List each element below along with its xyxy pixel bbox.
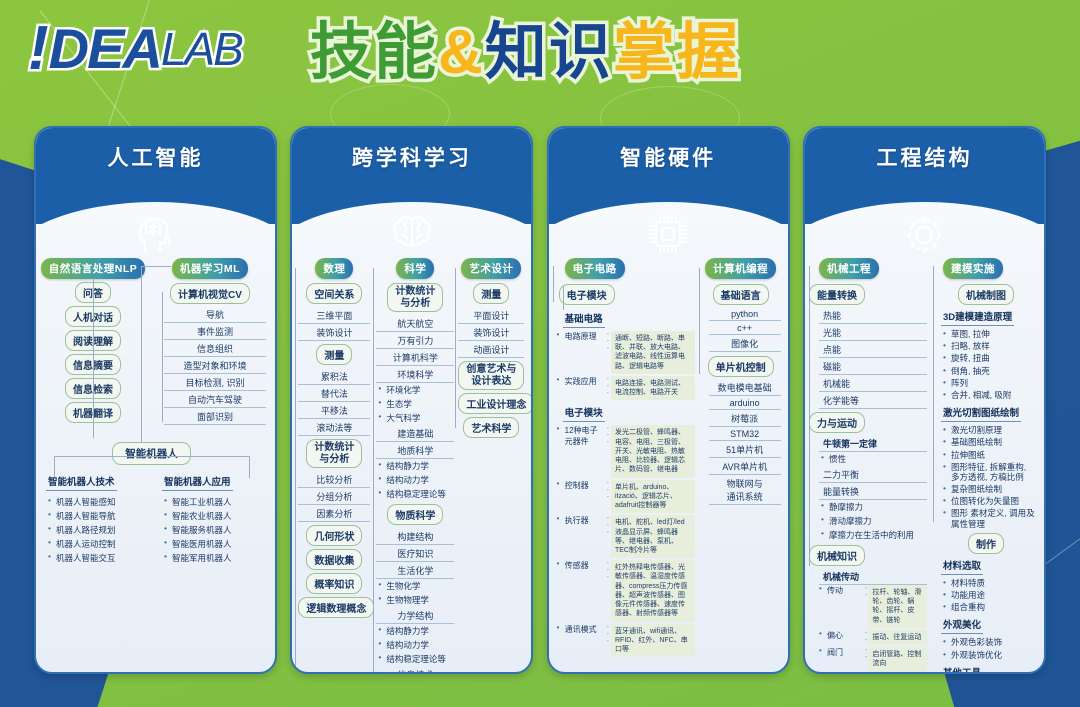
modeling-sub-header: 材料选取 — [941, 557, 983, 575]
basic-circuit-memo-label[interactable]: 电路原理 — [557, 331, 605, 342]
connector-electronic-module — [563, 286, 564, 310]
electronic-module-memo-label[interactable]: 12种电子 元器件 — [557, 425, 605, 447]
mechanical-group-node[interactable]: 能量转换 — [809, 284, 865, 305]
mathematics-node[interactable]: 概率知识 — [306, 573, 362, 594]
mechanical-item[interactable]: 化学能等 — [819, 392, 927, 409]
modeling-bullet[interactable]: 合并, 相减, 吸附 — [941, 389, 1039, 401]
mechanical-sub-list: 机械传动传动--拉杆、轮轴、滑轮、齿轮、蜗轮、摇杆、皮带、链轮偏心--振动、往复… — [809, 568, 927, 674]
electronic-module-memo-text: 电机、舵机、led灯/led液晶显示屏、蜂鸣器等、继电器、泵机、TEC制冷片等 — [611, 515, 695, 558]
column-2-header: 跨学科学习 — [292, 128, 531, 224]
robot-app-item[interactable]: 智能工业机器人 — [162, 495, 267, 509]
mathematics-leaf[interactable]: 平移法 — [298, 402, 370, 419]
electronic-module-memo-text: 发光二极管、蜂鸣器、电容、电阻、三极管、开关、光敏电阻、热敏电阻、比较器、逻辑芯… — [611, 425, 695, 477]
science-bullet[interactable]: 结构稳定理论等 — [376, 652, 454, 666]
mechanical-item[interactable]: 二力平衡 — [819, 466, 927, 483]
mathematics-leaf[interactable]: 比较分析 — [298, 471, 370, 488]
modeling-bullet[interactable]: 功能用途 — [941, 589, 1039, 601]
logo-idea-text: DEA — [49, 21, 161, 77]
mathematics-node[interactable]: 测量 — [316, 344, 352, 365]
hub-robot-node[interactable]: 智能机器人 — [112, 442, 191, 465]
cv-node[interactable]: 信息组织 — [164, 340, 266, 357]
modeling-sub-list: 材料选取材料特质功能用途组合重构外观美化外观色彩装饰外观装饰优化其他工具热熔胶枪… — [933, 556, 1039, 674]
modeling-group-node[interactable]: 制作 — [968, 533, 1004, 554]
mathematics-node[interactable]: 空间关系 — [306, 283, 362, 304]
dash-connector-icon: --- — [607, 376, 609, 397]
gear-icon — [805, 212, 1044, 258]
branch-ml-pill[interactable]: 机器学习ML — [172, 258, 248, 279]
programming-group: 单片机控制 — [701, 356, 781, 377]
electronic-module-memo-row: 通讯模式---蓝牙通讯、wifi通讯、RFID、红外、NFC、串口等 — [557, 624, 695, 658]
mechanical-memo-label[interactable]: 阀门 — [819, 647, 863, 658]
mechanical-memo-text: 振动、往复运动 — [868, 630, 927, 645]
modeling-bullet[interactable]: 外观色彩装饰 — [941, 636, 1039, 648]
section-modeling-implementation[interactable]: 建模实施 机械制图3D建模建造原理草图, 拉伸扫略, 放样旋转, 扭曲倒角, 抽… — [933, 258, 1039, 674]
title-part-knowledge: 知识 — [485, 14, 613, 92]
science-node[interactable]: 物质科学 — [387, 504, 443, 525]
section-electronic-circuit[interactable]: 电子电路 电子模块 基础电路 电路原理---通断、短路、断路、串联、并联、放大电… — [553, 258, 695, 659]
programming-item[interactable]: python — [709, 307, 781, 321]
electronic-module-memo-label[interactable]: 传感器 — [557, 560, 605, 571]
section-mechanical-engineering[interactable]: 机械工程 能量转换热能光能点能磁能机械能化学能等力与运动牛顿第一定律惯性二力平衡… — [809, 258, 927, 674]
mechanical-group: 机械知识 — [809, 545, 927, 566]
science-bullet[interactable]: 生物物理学 — [376, 593, 454, 607]
section-science-pill[interactable]: 科学 — [396, 258, 434, 279]
robot-app-item[interactable]: 智能医用机器人 — [162, 537, 267, 551]
dash-connector-icon: --- — [607, 515, 609, 536]
mechanical-memo-label[interactable]: 传动 — [819, 585, 863, 596]
robot-tech-group[interactable]: 智能机器人技术 机器人智能感知 机器人智能导航 机器人路径规划 机器人运动控制 … — [46, 472, 151, 565]
dash-connector-icon: --- — [607, 480, 609, 501]
cv-node[interactable]: 导航 — [164, 306, 266, 323]
modeling-sub-header: 外观美化 — [941, 616, 983, 634]
science-bullet[interactable]: 结构动力学 — [376, 638, 454, 652]
science-bullet[interactable]: 大气科学 — [376, 411, 454, 425]
modeling-bullet[interactable]: 复杂图纸绘制 — [941, 483, 1039, 495]
science-node-wrap: 物质科学 — [376, 504, 454, 525]
column-artificial-intelligence[interactable]: 人工智能 自然语言处理NLP 问答 人机对话 阅读理解 信息摘要 信息检索 机 — [34, 126, 277, 674]
electronic-module-memo-row: 12种电子 元器件---发光二极管、蜂鸣器、电容、电阻、三极管、开关、光敏电阻、… — [557, 425, 695, 477]
columns-container: 人工智能 自然语言处理NLP 问答 人机对话 阅读理解 信息摘要 信息检索 机 — [0, 126, 1080, 681]
electronic-circuit-pill[interactable]: 电子电路 — [565, 258, 625, 279]
mechanical-plain: 牛顿第一定律 — [819, 435, 927, 452]
mechanical-sub-list: 热能光能点能磁能机械能化学能等 — [809, 307, 927, 409]
modeling-sub-header: 激光切割图纸绘制 — [941, 404, 1021, 422]
science-leaf[interactable]: 万有引力 — [376, 332, 454, 349]
column-3-title: 智能硬件 — [549, 128, 788, 172]
art-design-leaf[interactable]: 动画设计 — [458, 341, 524, 358]
electronic-module-node[interactable]: 电子模块 — [559, 284, 615, 305]
column-1-header: 人工智能 — [36, 128, 275, 224]
programming-group-node[interactable]: 单片机控制 — [708, 356, 774, 377]
science-leaf[interactable]: 力学结构 — [376, 607, 454, 624]
mathematics-leaf[interactable]: 装饰设计 — [298, 324, 370, 341]
basic-circuit-memo-row: 实践应用---电路连接、电路测试、电流控制、电路开关 — [557, 376, 695, 400]
column-1-body: 自然语言处理NLP 问答 人机对话 阅读理解 信息摘要 信息检索 机器翻译 机器… — [36, 256, 275, 668]
mathematics-node-wrap: 测量 — [298, 344, 370, 365]
modeling-sub-header: 3D建模建造原理 — [941, 308, 1014, 326]
programming-item[interactable]: STM32 — [709, 427, 781, 441]
dash-connector-icon: --- — [607, 331, 609, 352]
section-science[interactable]: 科学 计数统计 与分析航天航空万有引力计算机科学环境科学环境化学生态学大气科学建… — [376, 258, 454, 674]
section-computer-programming[interactable]: 计算机编程 基础语言pythonc++图像化单片机控制数电模电基础arduino… — [701, 258, 781, 505]
logo-exclamation: ! — [28, 18, 47, 80]
science-node-wrap: 计数统计 与分析 — [376, 283, 454, 312]
cv-node-list: 导航 事件监测 信息组织 造型对象和环境 目标检测, 识别 自动汽车驾驶 面部识… — [154, 306, 266, 425]
art-design-node[interactable]: 工业设计理念 — [458, 393, 533, 414]
modeling-bullet[interactable]: 拉伸图纸 — [941, 449, 1039, 461]
electronic-module-header: 电子模块 — [563, 404, 605, 422]
basic-circuit-memo-row: 电路原理---通断、短路、断路、串联、并联、放大电路、滤波电路、线性运算电路、逻… — [557, 331, 695, 374]
mathematics-leaf[interactable]: 因素分析 — [298, 505, 370, 522]
modeling-bullet[interactable]: 位图转化为矢量图 — [941, 495, 1039, 507]
electronic-module-memo-text: 蓝牙通讯、wifi通讯、RFID、红外、NFC、串口等 — [611, 624, 695, 658]
programming-item[interactable]: arduino — [709, 396, 781, 410]
cv-node[interactable]: 事件监测 — [164, 323, 266, 340]
mathematics-node-wrap: 概率知识 — [298, 573, 370, 594]
science-bullet[interactable]: 生物化学 — [376, 579, 454, 593]
electronic-module-memo-label[interactable]: 通讯模式 — [557, 624, 605, 635]
robot-app-item[interactable]: 智能服务机器人 — [162, 523, 267, 537]
modeling-bullet[interactable]: 激光切割原理 — [941, 424, 1039, 436]
cv-head-node[interactable]: 计算机视觉CV — [170, 283, 250, 304]
art-design-leaf[interactable]: 平面设计 — [458, 307, 524, 324]
mathematics-node-wrap: 逻辑数理概念 — [298, 597, 370, 618]
mechanical-engineering-pill[interactable]: 机械工程 — [819, 258, 879, 279]
connector-programming — [699, 268, 700, 374]
science-leaf[interactable]: 环境科学 — [376, 366, 454, 383]
section-art-design-pill[interactable]: 艺术设计 — [461, 258, 521, 279]
programming-item[interactable]: 图像化 — [709, 335, 781, 352]
column-engineering-structure[interactable]: 工程结构 机械工程 能量转换热能光能点能磁能机械能化学能等力与运动牛顿第一定律惯… — [803, 126, 1046, 674]
programming-item[interactable]: 树莓派 — [709, 410, 781, 427]
mechanical-group-node[interactable]: 机械知识 — [809, 545, 865, 566]
basic-circuit-memos: 电路原理---通断、短路、断路、串联、并联、放大电路、滤波电路、线性运算电路、逻… — [553, 331, 695, 400]
art-design-node[interactable]: 测量 — [473, 283, 509, 304]
cv-node[interactable]: 造型对象和环境 — [164, 357, 266, 374]
cv-node[interactable]: 自动汽车驾驶 — [164, 391, 266, 408]
modeling-sub-header-wrap: 其他工具 — [941, 663, 1039, 674]
column-2-body: 数理 空间关系三维平面装饰设计测量累积法替代法平移法滚动法等计数统计 与分析比较… — [292, 256, 531, 668]
branch-ml[interactable]: 机器学习ML 计算机视觉CV 导航 事件监测 信息组织 造型对象和环境 目标检测… — [154, 258, 266, 425]
art-design-node-wrap: 工业设计理念 — [458, 393, 524, 414]
mathematics-node[interactable]: 几何形状 — [306, 525, 362, 546]
robot-app-list: 智能工业机器人 智能农业机器人 智能服务机器人 智能医用机器人 智能军用机器人 — [162, 495, 267, 565]
robot-app-header: 智能机器人应用 — [162, 473, 233, 491]
mechanical-item[interactable]: 热能 — [819, 307, 927, 324]
electronic-module-memo-text: 单片机、arduino、ització、逻辑芯片、adafruit控制器等 — [611, 480, 695, 514]
mathematics-node-wrap: 数据收集 — [298, 549, 370, 570]
science-bullet[interactable]: 生态学 — [376, 397, 454, 411]
programming-item[interactable]: c++ — [709, 321, 781, 335]
connector-branch-link — [141, 266, 171, 267]
modeling-bullet[interactable]: 材料特质 — [941, 577, 1039, 589]
mechanical-item[interactable]: 磁能 — [819, 358, 927, 375]
art-design-node[interactable]: 创意艺术与 设计表达 — [458, 361, 524, 390]
computer-programming-pill[interactable]: 计算机编程 — [705, 258, 776, 279]
mechanical-memo-row: 传动--拉杆、轮轴、滑轮、齿轮、蜗轮、摇杆、皮带、链轮 — [819, 585, 927, 628]
art-design-item-list: 测量平面设计装饰设计动画设计创意艺术与 设计表达工业设计理念艺术科学 — [458, 283, 524, 438]
modeling-bullet[interactable]: 图形特征, 拆解重构, 多方透视, 方稿比例 — [941, 461, 1039, 483]
modeling-sub-list: 3D建模建造原理草图, 拉伸扫略, 放样旋转, 扭曲倒角, 抽壳阵列合并, 相减… — [933, 307, 1039, 530]
mathematics-leaf[interactable]: 分组分析 — [298, 488, 370, 505]
mechanical-plain: 机械传动 — [819, 568, 927, 585]
mechanical-item[interactable]: 机械能 — [819, 375, 927, 392]
title-part-mastery: 掌握 — [613, 14, 741, 92]
science-leaf[interactable]: 信息技术 — [376, 666, 454, 674]
science-bullet[interactable]: 结构稳定理论等 — [376, 487, 454, 501]
programming-sub-list: pythonc++图像化 — [701, 307, 781, 352]
page-title: 技能 & 知识 掌握 — [310, 14, 741, 92]
mechanical-group: 力与运动 — [809, 412, 927, 433]
modeling-group-node[interactable]: 机械制图 — [958, 284, 1014, 305]
art-design-leaf[interactable]: 装饰设计 — [458, 324, 524, 341]
basic-circuit-memo-text: 通断、短路、断路、串联、并联、放大电路、滤波电路、线性运算电路、逻辑电路等 — [611, 331, 695, 374]
science-bullet[interactable]: 结构动力学 — [376, 473, 454, 487]
art-design-node-wrap: 创意艺术与 设计表达 — [458, 361, 524, 390]
mechanical-group: 能量转换 — [809, 284, 927, 305]
brain-head-icon — [36, 212, 275, 258]
column-4-header: 工程结构 — [805, 128, 1044, 224]
column-1-title: 人工智能 — [36, 128, 275, 172]
cv-node[interactable]: 目标检测, 识别 — [164, 374, 266, 391]
programming-item[interactable]: AVR单片机 — [709, 458, 781, 475]
basic-circuit-header: 基础电路 — [563, 310, 605, 328]
mechanical-memo-text: 拉杆、轮轴、滑轮、齿轮、蜗轮、摇杆、皮带、链轮 — [868, 585, 927, 628]
modeling-bullet[interactable]: 草图, 拉伸 — [941, 328, 1039, 340]
dash-connector-icon: --- — [607, 425, 609, 446]
robot-tech-item[interactable]: 机器人路径规划 — [46, 523, 151, 537]
title-part-skill: 技能 — [310, 14, 438, 92]
robot-app-item[interactable]: 智能农业机器人 — [162, 509, 267, 523]
connector-modeling — [933, 266, 934, 522]
logo-lab-text: LAB — [161, 26, 242, 72]
mechanical-item[interactable]: 惯性 — [819, 452, 927, 466]
mechanical-memo-text: 启闭管路、控制流向 — [868, 647, 927, 671]
modeling-bullet[interactable]: 旋转, 扭曲 — [941, 352, 1039, 364]
robot-tech-list: 机器人智能感知 机器人智能导航 机器人路径规划 机器人运动控制 机器人智能交互 — [46, 495, 151, 565]
science-bullet[interactable]: 结构静力学 — [376, 624, 454, 638]
science-leaf[interactable]: 构建结构 — [376, 528, 454, 545]
programming-group-node[interactable]: 基础语言 — [713, 284, 769, 305]
mechanical-item[interactable]: 能量转换 — [819, 483, 927, 500]
mechanical-memo-row: 阀门--启闭管路、控制流向 — [819, 647, 927, 671]
title-ampersand: & — [438, 14, 485, 92]
electronic-module-memo-row: 传感器---红外热释电传感器、光敏传感器、温湿度传感器、compress压力传感… — [557, 560, 695, 621]
connector-nlp — [93, 278, 94, 438]
dash-connector-icon: -- — [865, 585, 866, 599]
mechanical-group-node[interactable]: 力与运动 — [809, 412, 865, 433]
modeling-sub-header-wrap: 外观美化 — [941, 615, 1039, 634]
modeling-pill[interactable]: 建模实施 — [943, 258, 1003, 279]
dash-connector-icon: -- — [865, 647, 866, 661]
modeling-sub-header-wrap: 3D建模建造原理 — [941, 307, 1039, 326]
mechanical-item[interactable]: 摩擦力在生活中的利用 — [819, 528, 927, 542]
dash-connector-icon: --- — [607, 560, 609, 581]
robot-tech-header: 智能机器人技术 — [46, 473, 117, 491]
section-art-design[interactable]: 艺术设计 测量平面设计装饰设计动画设计创意艺术与 设计表达工业设计理念艺术科学 — [458, 258, 524, 441]
mathematics-leaf[interactable]: 替代法 — [298, 385, 370, 402]
connector-hub-vertical — [141, 266, 142, 448]
programming-item[interactable]: 物联网与 通讯系统 — [709, 475, 781, 505]
mathematics-node[interactable]: 计数统计 与分析 — [306, 439, 362, 468]
branch-nlp-pill[interactable]: 自然语言处理NLP — [41, 258, 146, 279]
mechanical-item[interactable]: 点能 — [819, 341, 927, 358]
science-item-list: 计数统计 与分析航天航空万有引力计算机科学环境科学环境化学生态学大气科学建造基础… — [376, 283, 454, 674]
modeling-bullet[interactable]: 组合重构 — [941, 601, 1039, 613]
mechanical-item[interactable]: 滑动摩擦力 — [819, 514, 927, 528]
section-mathematics-pill[interactable]: 数理 — [315, 258, 353, 279]
programming-sub-list: 数电模电基础arduino树莓派STM3251单片机AVR单片机物联网与 通讯系… — [701, 379, 781, 505]
connector-art-design — [455, 268, 456, 428]
modeling-sub-header-wrap: 材料选取 — [941, 556, 1039, 575]
modeling-bullet[interactable]: 阵列 — [941, 377, 1039, 389]
art-design-node[interactable]: 艺术科学 — [463, 417, 519, 438]
cv-node[interactable]: 面部识别 — [164, 408, 266, 425]
mechanical-item[interactable]: 光能 — [819, 324, 927, 341]
column-interdisciplinary-learning[interactable]: 跨学科学习 数理 空间关系三维平面装饰设计测量累积法替代法平移法滚动法等计数统计… — [290, 126, 533, 674]
mathematics-node-wrap: 空间关系 — [298, 283, 370, 304]
science-leaf[interactable]: 航天航空 — [376, 315, 454, 332]
column-smart-hardware[interactable]: 智能硬件 电子电路 电子模块 基础电路 电路原理---通断、短路、断路、串联、并… — [547, 126, 790, 674]
science-bullet[interactable]: 环境化学 — [376, 383, 454, 397]
modeling-item-list: 机械制图3D建模建造原理草图, 拉伸扫略, 放样旋转, 扭曲倒角, 抽壳阵列合并… — [933, 284, 1039, 674]
art-design-node-wrap: 艺术科学 — [458, 417, 524, 438]
column-2-title: 跨学科学习 — [292, 128, 531, 172]
section-mathematics[interactable]: 数理 空间关系三维平面装饰设计测量累积法替代法平移法滚动法等计数统计 与分析比较… — [298, 258, 370, 621]
mathematics-node[interactable]: 数据收集 — [306, 549, 362, 570]
poster-header: ! DEA LAB 技能 & 知识 掌握 — [0, 0, 1080, 120]
mathematics-node-wrap: 计数统计 与分析 — [298, 439, 370, 468]
modeling-sub-header-wrap: 激光切割图纸绘制 — [941, 403, 1039, 422]
mathematics-item-list: 空间关系三维平面装饰设计测量累积法替代法平移法滚动法等计数统计 与分析比较分析分… — [298, 283, 370, 618]
mechanical-memo-label[interactable]: 偏心 — [819, 630, 863, 641]
programming-item-list: 基础语言pythonc++图像化单片机控制数电模电基础arduino树莓派STM… — [701, 284, 781, 505]
programming-item[interactable]: 51单片机 — [709, 441, 781, 458]
column-4-title: 工程结构 — [805, 128, 1044, 172]
science-bullet[interactable]: 结构静力学 — [376, 459, 454, 473]
chip-icon — [549, 212, 788, 258]
connector-mechanical — [809, 266, 810, 566]
connector-science — [373, 268, 374, 674]
modeling-bullet[interactable]: 倒角, 抽壳 — [941, 365, 1039, 377]
mathematics-node[interactable]: 逻辑数理概念 — [298, 597, 374, 618]
mathematics-leaf[interactable]: 累积法 — [298, 368, 370, 385]
basic-circuit-memo-label[interactable]: 实践应用 — [557, 376, 605, 387]
electronic-module-memo-text: 红外热释电传感器、光敏传感器、温湿度传感器、compress压力传感器、超声波传… — [611, 560, 695, 621]
modeling-bullet[interactable]: 外观装饰优化 — [941, 649, 1039, 661]
modeling-bullet[interactable]: 扫略, 放样 — [941, 340, 1039, 352]
modeling-sub-header: 其他工具 — [941, 664, 983, 674]
connector-cv — [162, 292, 163, 422]
robot-app-group[interactable]: 智能机器人应用 智能工业机器人 智能农业机器人 智能服务机器人 智能医用机器人 … — [162, 472, 267, 565]
dash-connector-icon: --- — [607, 624, 609, 645]
connector-mathematics — [295, 268, 296, 674]
hub-robot[interactable]: 智能机器人 — [36, 442, 267, 465]
modeling-bullet[interactable]: 基础图纸绘制 — [941, 436, 1039, 448]
programming-group: 基础语言 — [701, 284, 781, 305]
mechanical-sub-list: 牛顿第一定律惯性二力平衡能量转换静摩擦力滑动摩擦力摩擦力在生活中的利用 — [809, 435, 927, 542]
electronic-module-memo-label[interactable]: 控制器 — [557, 480, 605, 491]
mathematics-node-wrap: 几何形状 — [298, 525, 370, 546]
dash-connector-icon: -- — [865, 630, 866, 644]
science-leaf[interactable]: 生活化学 — [376, 562, 454, 579]
basic-circuit-memo-text: 电路连接、电路测试、电流控制、电路开关 — [611, 376, 695, 400]
mechanical-item[interactable]: 静摩擦力 — [819, 500, 927, 514]
mathematics-leaf[interactable]: 滚动法等 — [298, 419, 370, 436]
connector-hub-horizontal — [54, 456, 250, 457]
programming-item[interactable]: 数电模电基础 — [709, 379, 781, 396]
science-node[interactable]: 计数统计 与分析 — [387, 283, 443, 312]
science-leaf[interactable]: 建造基础 — [376, 425, 454, 442]
robot-tech-item[interactable]: 机器人智能感知 — [46, 495, 151, 509]
modeling-group: 制作 — [933, 533, 1039, 554]
robot-tech-item[interactable]: 机器人智能交互 — [46, 551, 151, 565]
mechanical-memo-row: 偏心--振动、往复运动 — [819, 630, 927, 645]
robot-tech-item[interactable]: 机器人智能导航 — [46, 509, 151, 523]
connector-electronic-circuit — [553, 266, 554, 302]
art-design-node-wrap: 测量 — [458, 283, 524, 304]
electronic-module-memo-row: 执行器---电机、舵机、led灯/led液晶显示屏、蜂鸣器等、继电器、泵机、TE… — [557, 515, 695, 558]
electronic-module-memo-row: 控制器---单片机、arduino、ització、逻辑芯片、adafruit控… — [557, 480, 695, 514]
science-leaf[interactable]: 地质科学 — [376, 442, 454, 459]
brain-icon — [292, 212, 531, 258]
mechanical-item-list: 能量转换热能光能点能磁能机械能化学能等力与运动牛顿第一定律惯性二力平衡能量转换静… — [809, 284, 927, 674]
science-leaf[interactable]: 计算机科学 — [376, 349, 454, 366]
modeling-group: 机械制图 — [933, 284, 1039, 305]
electronic-module-memos: 12种电子 元器件---发光二极管、蜂鸣器、电容、电阻、三极管、开关、光敏电阻、… — [553, 425, 695, 657]
robot-tech-item[interactable]: 机器人运动控制 — [46, 537, 151, 551]
electronic-module-memo-label[interactable]: 执行器 — [557, 515, 605, 526]
brand-logo: ! DEA LAB — [28, 18, 242, 80]
column-3-header: 智能硬件 — [549, 128, 788, 224]
robot-app-item[interactable]: 智能军用机器人 — [162, 551, 267, 565]
column-3-body: 电子电路 电子模块 基础电路 电路原理---通断、短路、断路、串联、并联、放大电… — [549, 256, 788, 668]
column-4-body: 机械工程 能量转换热能光能点能磁能机械能化学能等力与运动牛顿第一定律惯性二力平衡… — [805, 256, 1044, 668]
science-leaf[interactable]: 医疗知识 — [376, 545, 454, 562]
modeling-bullet[interactable]: 图形 素材定义, 调用及属性管理 — [941, 507, 1039, 529]
mathematics-leaf[interactable]: 三维平面 — [298, 307, 370, 324]
